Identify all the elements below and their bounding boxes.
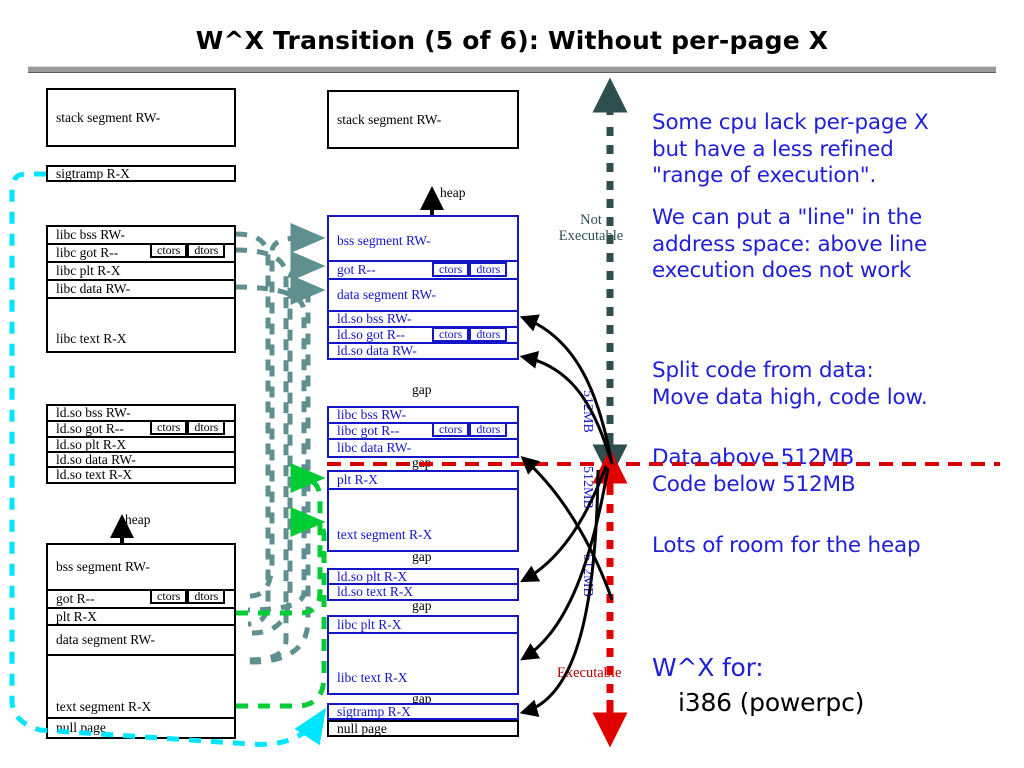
mid-data-row: ld.so data RW- (329, 344, 517, 358)
left-plt-label: plt R-X (56, 609, 97, 625)
left-ldso-row: ld.so text R-X (48, 468, 234, 482)
left-stack-label: stack segment RW- (56, 110, 160, 126)
mid-text-label: text segment R-X (337, 527, 432, 543)
left-ldso-got-label: ld.so got R-- (56, 421, 124, 437)
dtors-cell: dtors (187, 420, 225, 435)
note-range-of-execution: Some cpu lack per-page X but have a less… (652, 110, 929, 190)
mid-ldso-data-label: ld.so data RW- (337, 343, 417, 359)
left-main-row: data segment RW- (48, 626, 234, 656)
gap-label: gap (412, 382, 432, 398)
left-main-row: text segment R-X (48, 656, 234, 719)
left-ldso-data-label: ld.so data RW- (56, 452, 136, 468)
left-libc-plt-label: libc plt R-X (56, 263, 121, 279)
data-relocation-arrows (250, 238, 318, 662)
mid-ldso-text-label: ld.so text R-X (337, 584, 413, 600)
mid-data-row: ld.so bss RW- (329, 312, 517, 328)
mid-ldso-got-label: ld.so got R-- (337, 327, 405, 343)
ctors-cell: ctors (150, 589, 187, 604)
dtors-cell: dtors (469, 422, 507, 437)
mid-data-label: data segment RW- (337, 287, 436, 303)
boundary-label-512mb: 512MB (579, 390, 595, 433)
left-heap-label: heap (125, 512, 150, 528)
gap-label: gap (412, 598, 432, 614)
mid-stack-label: stack segment RW- (337, 112, 441, 128)
dtors-cell: dtors (187, 589, 225, 604)
mid-ldso-plt-label: ld.so plt R-X (337, 569, 407, 585)
left-ldso-bss-label: ld.so bss RW- (56, 405, 131, 421)
left-ldso-ctors-dtors: ctors dtors (150, 420, 225, 435)
footer-arch-label: i386 (powerpc) (678, 690, 864, 717)
mid-ldso-text-row: ld.so plt R-X (329, 570, 517, 585)
ctors-cell: ctors (432, 262, 469, 277)
left-main-box: bss segment RW- got R-- plt R-X data seg… (46, 543, 236, 739)
dtors-cell: dtors (469, 262, 507, 277)
slide-title: W^X Transition (5 of 6): Without per-pag… (0, 26, 1024, 55)
note-split-code-from-data: Split code from data: Move data high, co… (652, 358, 928, 411)
executable-label: Executable (557, 665, 621, 682)
title-divider (28, 66, 996, 73)
code-relocation-arrows (236, 478, 324, 706)
left-main-ctors-dtors: ctors dtors (150, 589, 225, 604)
mid-nullpage-label: null page (337, 721, 387, 737)
left-libc-row: libc plt R-X (48, 263, 234, 281)
mid-data-ctors-dtors: ctors dtors (432, 262, 507, 277)
mid-plt-label: plt R-X (337, 472, 378, 488)
ctors-cell: ctors (432, 327, 469, 342)
left-sigtramp-label: sigtramp R-X (56, 166, 130, 182)
left-main-row: null page (48, 719, 234, 737)
left-libc-got-label: libc got R-- (56, 245, 118, 261)
left-stack-box: stack segment RW- (46, 88, 236, 147)
mid-ldso-text-row: ld.so text R-X (329, 585, 517, 599)
mid-ldso-ctors-dtors: ctors dtors (432, 327, 507, 342)
mid-text-row: text segment R-X (329, 490, 517, 550)
mid-stack-box: stack segment RW- (327, 90, 519, 149)
mid-heap-label: heap (440, 185, 465, 201)
boundary-label-512mb: 512MB (579, 466, 595, 509)
mid-nullpage-box: null page (327, 720, 519, 737)
left-ldso-row: ld.so data RW- (48, 453, 234, 468)
mid-libc-text-row: libc text R-X (329, 634, 517, 693)
mid-sigtramp-box: sigtramp R-X (327, 703, 519, 720)
left-main-row: bss segment RW- (48, 545, 234, 591)
mid-libc-bss-label: libc bss RW- (337, 407, 406, 423)
left-libc-ctors-dtors: ctors dtors (150, 243, 225, 258)
left-libc-row: libc text R-X (48, 299, 234, 351)
mid-libc-text-label: libc text R-X (337, 670, 408, 686)
libc-data-connector-group (236, 234, 304, 660)
left-nullpage-label: null page (56, 720, 106, 736)
mid-libc-data-label: libc data RW- (337, 440, 411, 456)
text-move-arrows (524, 318, 612, 712)
not-executable-label: Not Executable (556, 212, 626, 244)
left-libc-data-label: libc data RW- (56, 281, 130, 297)
note-data-above-512mb: Data above 512MB Code below 512MB (652, 445, 855, 498)
mid-libc-row: libc data RW- (329, 440, 517, 456)
ctors-cell: ctors (150, 243, 187, 258)
gap-label: gap (412, 455, 432, 471)
mid-text-box: plt R-X text segment R-X (327, 470, 519, 552)
mid-libc-got-label: libc got R-- (337, 423, 399, 439)
left-ldso-plt-label: ld.so plt R-X (56, 437, 126, 453)
ctors-cell: ctors (150, 420, 187, 435)
mid-ldso-text-box: ld.so plt R-X ld.so text R-X (327, 568, 519, 601)
mid-ldso-bss-label: ld.so bss RW- (337, 311, 412, 327)
mid-sigtramp-label: sigtramp R-X (337, 704, 411, 720)
mid-bss-label: bss segment RW- (337, 233, 431, 249)
left-bss-label: bss segment RW- (56, 559, 150, 575)
left-got-label: got R-- (56, 591, 95, 607)
left-libc-row: libc data RW- (48, 281, 234, 299)
dtors-cell: dtors (187, 243, 225, 258)
slide-canvas: W^X Transition (5 of 6): Without per-pag… (0, 0, 1024, 768)
mid-data-row: data segment RW- (329, 280, 517, 312)
mid-data-row: bss segment RW- (329, 217, 517, 262)
mid-libc-plt-label: libc plt R-X (337, 617, 402, 633)
left-sigtramp-box: sigtramp R-X (46, 165, 236, 182)
left-ldso-text-label: ld.so text R-X (56, 467, 132, 483)
left-data-label: data segment RW- (56, 632, 155, 648)
mid-libc-text-box: libc plt R-X libc text R-X (327, 615, 519, 695)
mid-libc-ctors-dtors: ctors dtors (432, 422, 507, 437)
note-room-for-heap: Lots of room for the heap (652, 533, 920, 560)
note-line-in-address-space: We can put a "line" in the address space… (652, 205, 927, 285)
left-libc-bss-label: libc bss RW- (56, 227, 125, 243)
boundary-label-512mb: 512MB (579, 554, 595, 597)
ctors-cell: ctors (432, 422, 469, 437)
footer-wx-label: W^X for: (652, 655, 764, 682)
gap-label: gap (412, 549, 432, 565)
left-main-row: plt R-X (48, 609, 234, 626)
left-text-label: text segment R-X (56, 699, 151, 715)
mid-got-label: got R-- (337, 262, 376, 278)
left-ldso-box: ld.so bss RW- ld.so got R-- ld.so plt R-… (46, 404, 236, 484)
left-libc-text-label: libc text R-X (56, 331, 127, 347)
mid-text-row: plt R-X (329, 472, 517, 490)
mid-libc-text-row: libc plt R-X (329, 617, 517, 634)
dtors-cell: dtors (469, 327, 507, 342)
